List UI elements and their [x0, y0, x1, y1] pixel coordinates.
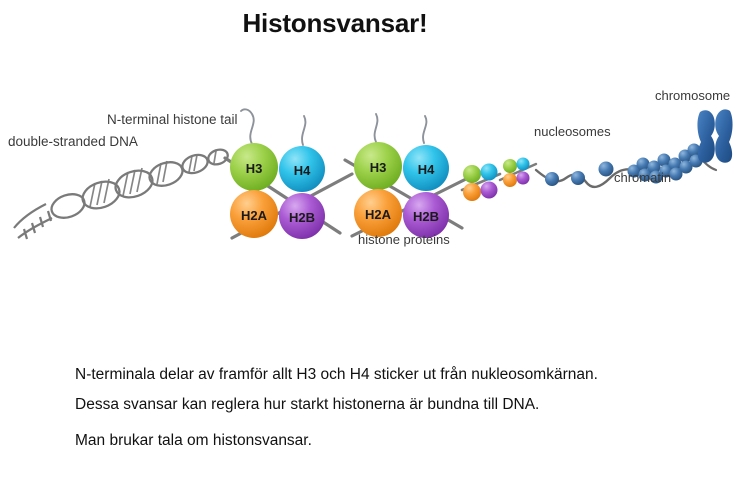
chromosome-icon — [697, 109, 732, 162]
body-paragraph-1-line-2: Man brukar tala om histonsvansar. — [75, 430, 598, 452]
page-title: Histonsvansar! — [0, 8, 670, 39]
label-nucleosomes: nucleosomes — [534, 124, 611, 139]
histone-label-h2b: H2B — [289, 210, 315, 225]
dna-double-helix — [14, 147, 230, 239]
histone-label-h2a: H2A — [241, 208, 268, 223]
label-chromosome: chromosome — [655, 88, 730, 103]
histone-cluster-1: H3 H4 H2A H2B — [230, 109, 325, 239]
label-histone-proteins: histone proteins — [358, 232, 450, 247]
n-terminal-tail-icon-2 — [375, 114, 427, 143]
nucleosome-bead — [599, 162, 614, 177]
histone-cluster-2: H3 H4 H2A H2B — [354, 114, 449, 238]
histone-label-h2a: H2A — [365, 207, 392, 222]
label-double-stranded-dna: double-stranded DNA — [8, 134, 138, 149]
slide-canvas: Histonsvansar! — [0, 0, 756, 474]
chromatin-organization-diagram: H3 H4 H2A H2B H3 H4 H2A H2B — [0, 78, 756, 278]
n-terminal-tail-icon — [241, 109, 305, 145]
chromatin-diagram-container: H3 H4 H2A H2B H3 H4 H2A H2B — [0, 78, 756, 278]
small-nucleosome-cluster-1 — [462, 164, 500, 202]
label-chromatin: chromatin — [614, 170, 671, 185]
body-paragraph-1-line-1: N-terminala delar av framför allt H3 och… — [75, 364, 598, 386]
histone-label-h4: H4 — [294, 163, 311, 178]
small-nucleosome-cluster-2 — [500, 158, 536, 188]
histone-label-h3: H3 — [246, 161, 263, 176]
histone-label-h3: H3 — [370, 160, 387, 175]
nucleosome-bead — [571, 171, 585, 185]
body-paragraph-2: Dessa svansar kan reglera hur starkt his… — [75, 394, 539, 416]
histone-label-h4: H4 — [418, 162, 435, 177]
histone-label-h2b: H2B — [413, 209, 439, 224]
label-n-terminal-histone-tail: N-terminal histone tail — [107, 112, 238, 127]
nucleosome-bead — [545, 172, 559, 186]
